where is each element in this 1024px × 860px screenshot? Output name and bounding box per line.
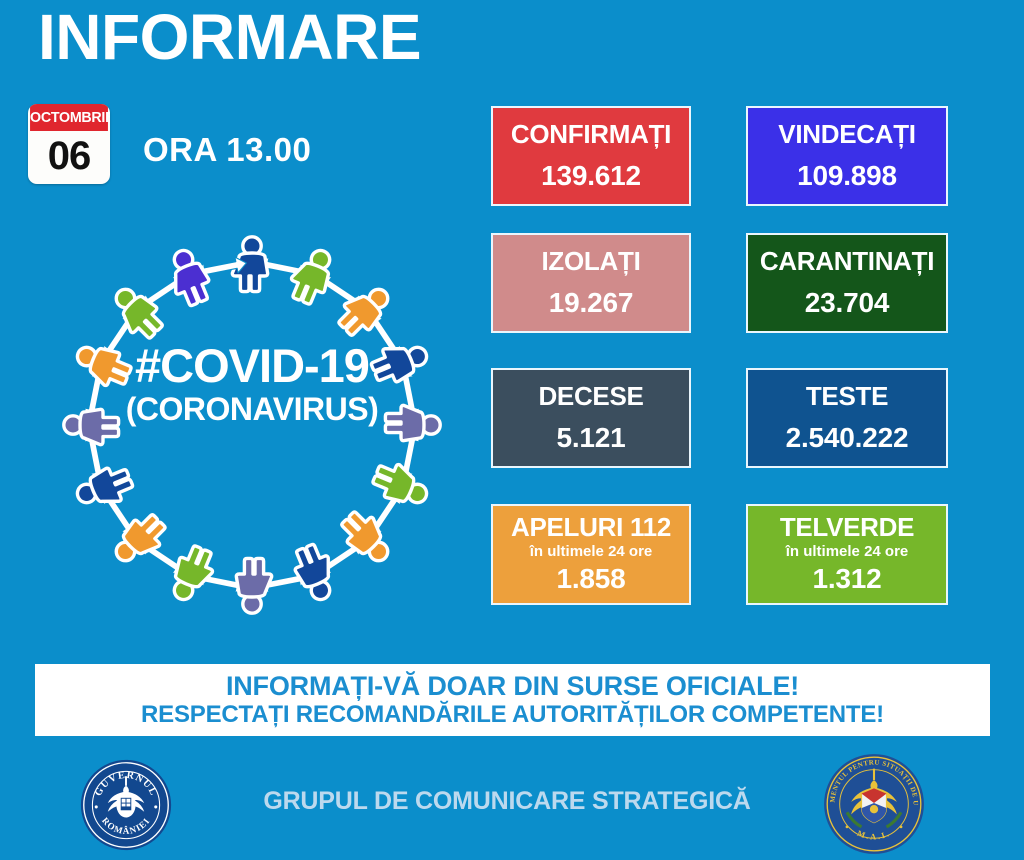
stat-label: TESTE [806,382,888,411]
people-circle-svg [42,215,462,635]
person-figure [285,244,339,308]
stat-label: DECESE [538,382,643,411]
stat-card-confirmati[interactable]: CONFIRMAȚI 139.612 [491,106,691,206]
stat-sublabel: în ultimele 24 ore [530,543,653,560]
stat-card-apeluri112[interactable]: APELURI 112 în ultimele 24 ore 1.858 [491,504,691,605]
calendar-icon: OCTOMBRIE 06 [28,104,110,184]
stat-value: 19.267 [549,287,633,319]
stat-label: TELVERDE [780,513,914,542]
infographic-canvas: INFORMARE OCTOMBRIE 06 ORA 13.00 #COVID-… [0,0,1024,860]
stat-value: 1.312 [812,563,881,595]
stat-value: 2.540.222 [786,422,909,454]
page-title: INFORMARE [38,4,421,71]
stat-card-carantinati[interactable]: CARANTINAȚI 23.704 [746,233,948,333]
stat-card-decese[interactable]: DECESE 5.121 [491,368,691,468]
stat-card-telverde[interactable]: TELVERDE în ultimele 24 ore 1.312 [746,504,948,605]
stat-value: 109.898 [797,160,897,192]
person-figure [71,339,135,393]
stat-value: 139.612 [541,160,641,192]
stat-label: CARANTINAȚI [760,247,934,276]
person-figure [236,558,271,613]
guvernul-romaniei-seal-icon: GUVERNUL ROMÂNIEI [78,757,174,853]
stat-label: IZOLAȚI [542,247,641,276]
stat-label: CONFIRMAȚI [511,120,671,149]
person-figure [289,541,343,605]
person-figure [72,462,136,516]
calendar-month-label: OCTOMBRIE [30,104,108,131]
calendar-day-label: 06 [28,131,110,184]
person-figure [162,245,216,309]
banner-line-2: RESPECTAȚI RECOMANDĂRILE AUTORITĂȚILOR C… [141,702,884,729]
dsu-mai-emblem-icon: DEPARTAMENTUL PENTRU SITUAȚII DE URGENȚĂ… [822,752,926,856]
covid-cycle-diagram: #COVID-19 (CORONAVIRUS) [42,215,462,635]
stat-value: 5.121 [556,422,625,454]
stat-value: 1.858 [556,563,625,595]
person-figure [64,409,119,444]
person-figure [166,542,220,606]
stat-value: 23.704 [805,287,889,319]
report-time: ORA 13.00 [143,131,311,169]
stat-card-teste[interactable]: TESTE 2.540.222 [746,368,948,468]
banner-line-1: INFORMAȚI-VĂ DOAR DIN SURSE OFICIALE! [226,671,799,701]
footer-organization: GRUPUL DE COMUNICARE STRATEGICĂ [222,787,792,816]
stat-sublabel: în ultimele 24 ore [786,543,909,560]
stat-label: VINDECAȚI [778,120,915,149]
stat-card-vindecati[interactable]: VINDECAȚI 109.898 [746,106,948,206]
stat-label: APELURI 112 [511,513,671,542]
person-figure [368,335,432,389]
stat-card-izolati[interactable]: IZOLAȚI 19.267 [491,233,691,333]
person-figure [369,458,433,512]
person-figure [385,405,440,440]
official-sources-banner: INFORMAȚI-VĂ DOAR DIN SURSE OFICIALE! RE… [35,664,990,736]
